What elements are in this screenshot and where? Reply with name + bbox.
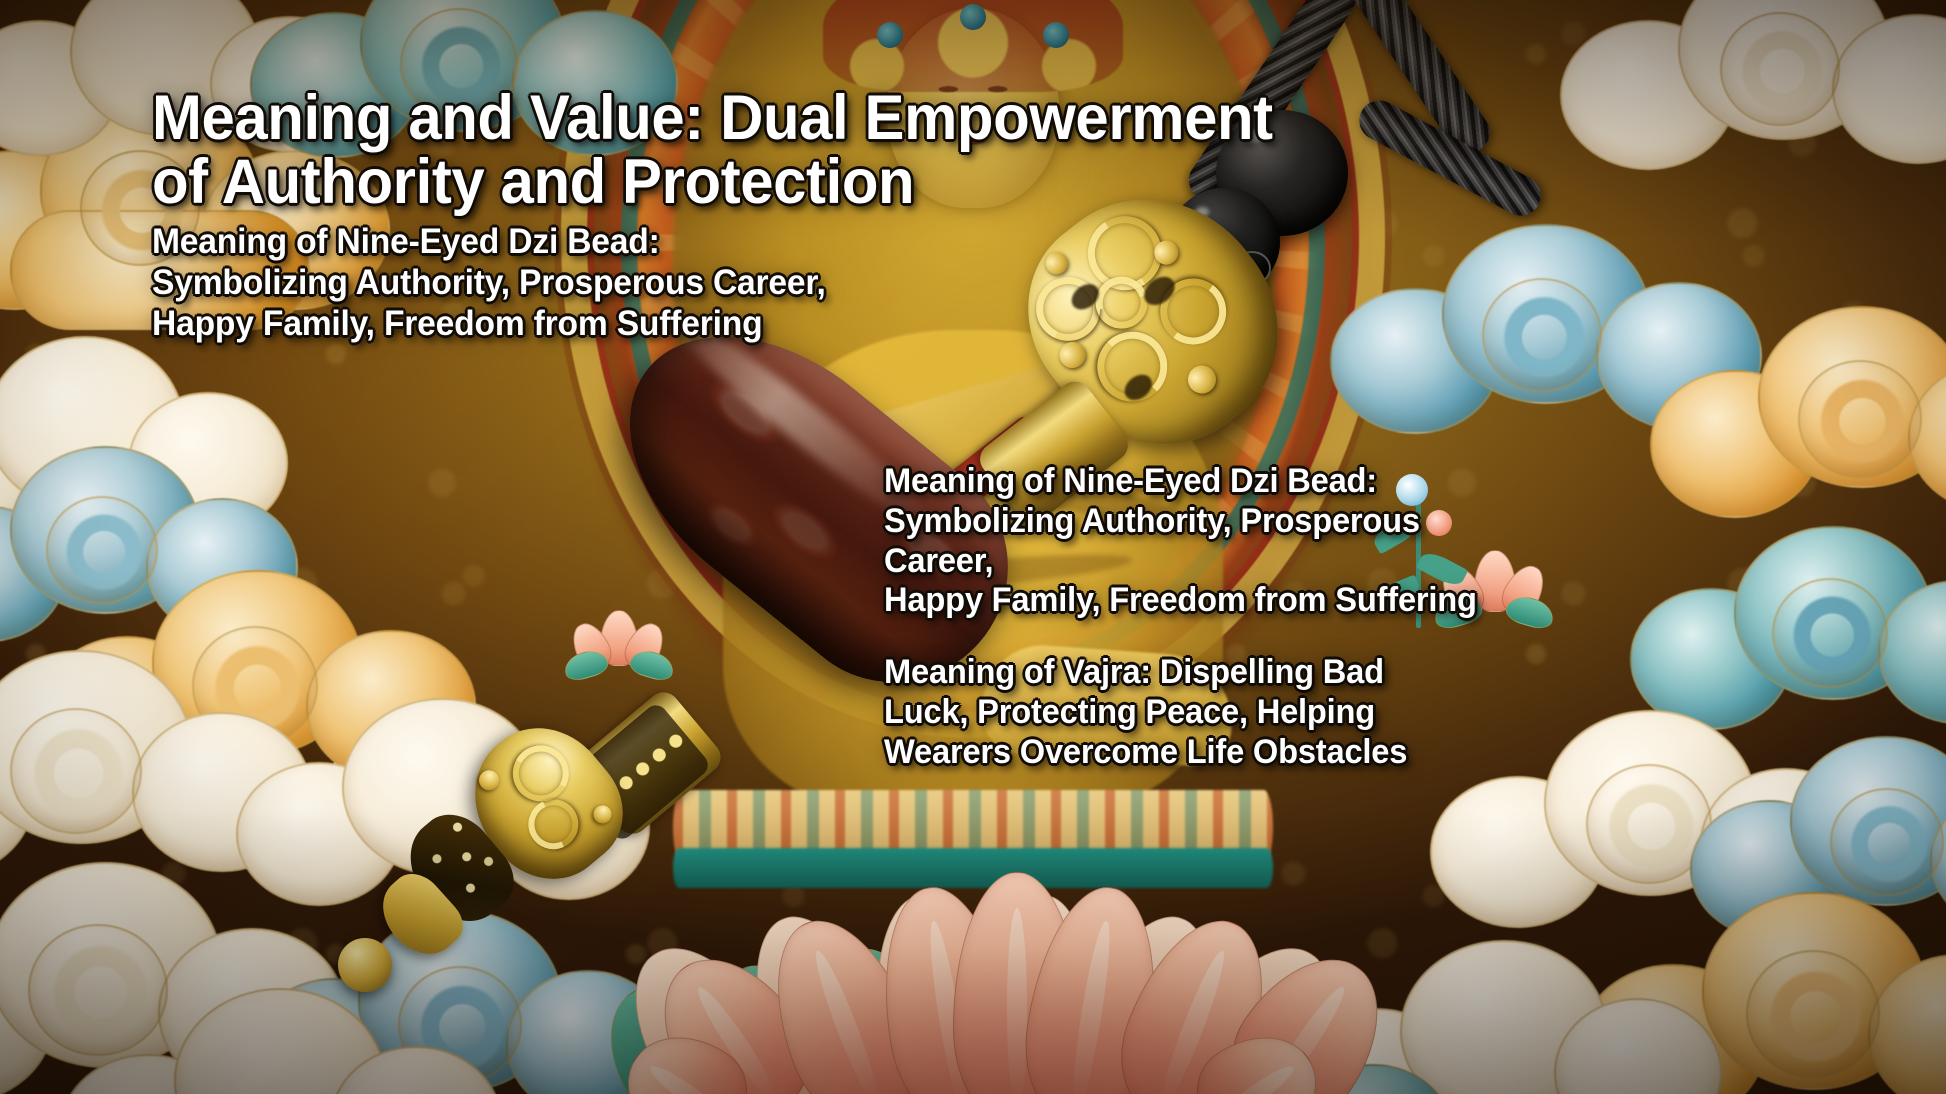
caption-right-block: Meaning of Nine-Eyed Dzi Bead: Symbolizi… — [884, 462, 1498, 772]
vajra-caption-line-3: Wearers Overcome Life Obstacles — [884, 733, 1498, 773]
vajra-caption-line-1: Meaning of Vajra: Dispelling Bad — [884, 653, 1498, 693]
subtitle-left-line-3: Happy Family, Freedom from Suffering — [152, 304, 901, 345]
title-line-2: of Authority and Protection — [152, 150, 1273, 214]
subtitle-left-block: Meaning of Nine-Eyed Dzi Bead: Symbolizi… — [152, 222, 901, 345]
dzi-caption-line-3: Happy Family, Freedom from Suffering — [884, 581, 1498, 621]
thangka-pendant-image: Meaning and Value: Dual Empowerment of A… — [0, 0, 1946, 1094]
vajra-scroll-curl — [521, 792, 585, 856]
vajra-tip-ball — [338, 938, 392, 992]
vajra-caption-line-2: Luck, Protecting Peace, Helping — [884, 693, 1498, 733]
dzi-caption-line-2: Symbolizing Authority, Prosperous Career… — [884, 502, 1498, 582]
dzi-caption-line-1: Meaning of Nine-Eyed Dzi Bead: — [884, 462, 1498, 502]
vajra-stud — [475, 766, 503, 794]
vajra-scroll-curl — [506, 739, 575, 808]
title-line-1: Meaning and Value: Dual Empowerment — [152, 86, 1273, 150]
subtitle-left-line-1: Meaning of Nine-Eyed Dzi Bead: — [152, 222, 901, 263]
caption-paragraph-dzi: Meaning of Nine-Eyed Dzi Bead: Symbolizi… — [884, 462, 1498, 621]
caption-paragraph-vajra: Meaning of Vajra: Dispelling Bad Luck, P… — [884, 653, 1498, 772]
vajra-stud — [590, 802, 615, 827]
subtitle-left-line-2: Symbolizing Authority, Prosperous Career… — [152, 263, 901, 304]
page-title: Meaning and Value: Dual Empowerment of A… — [152, 86, 1273, 215]
